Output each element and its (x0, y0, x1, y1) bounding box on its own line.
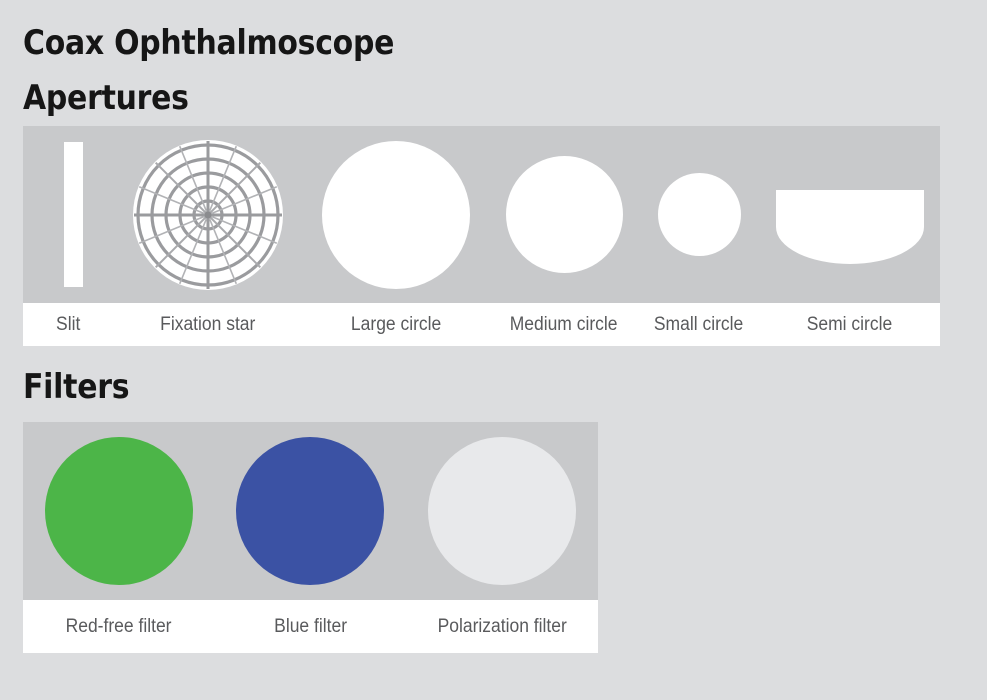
aperture-cell-medium-circle[interactable] (489, 126, 639, 303)
fixation-star-icon (132, 139, 284, 291)
label-text: Slit (56, 314, 80, 336)
aperture-label-medium-circle: Medium circle (489, 303, 639, 346)
apertures-label-row: Slit Fixation star Large circle Medium c… (23, 303, 940, 346)
aperture-cell-large-circle[interactable] (303, 126, 489, 303)
page-title-line-2: Apertures (23, 71, 586, 126)
label-text: Semi circle (807, 314, 892, 336)
filter-label-blue: Blue filter (215, 600, 407, 653)
small-circle-icon (658, 173, 741, 256)
aperture-label-fixation-star: Fixation star (113, 303, 303, 346)
filter-cell-blue[interactable] (215, 422, 407, 600)
filters-panel: Red-free filter Blue filter Polarization… (23, 422, 598, 653)
aperture-cell-fixation-star[interactable] (113, 126, 303, 303)
apertures-panel: Slit Fixation star Large circle Medium c… (23, 126, 940, 346)
semi-circle-icon (776, 190, 924, 264)
page-title: Coax Ophthalmoscope Apertures (23, 16, 663, 126)
label-text: Polarization filter (437, 616, 566, 638)
blue-filter-disc-icon (236, 437, 384, 585)
aperture-label-semi-circle: Semi circle (759, 303, 940, 346)
polarization-filter-disc-icon (428, 437, 576, 585)
label-text: Medium circle (510, 314, 618, 336)
filters-label-row: Red-free filter Blue filter Polarization… (23, 600, 598, 653)
label-text: Blue filter (274, 616, 347, 638)
filter-label-polarization: Polarization filter (406, 600, 598, 653)
large-circle-icon (322, 141, 470, 289)
filters-heading: Filters (23, 366, 129, 408)
filter-cell-polarization[interactable] (406, 422, 598, 600)
aperture-label-slit: Slit (23, 303, 113, 346)
filters-shape-row (23, 422, 598, 600)
aperture-label-large-circle: Large circle (303, 303, 489, 346)
aperture-cell-small-circle[interactable] (639, 126, 759, 303)
apertures-shape-row (23, 126, 940, 303)
aperture-cell-semi-circle[interactable] (759, 126, 940, 303)
aperture-label-small-circle: Small circle (639, 303, 759, 346)
ophthalmoscope-reference-figure: { "title": { "line1": "Coax Ophthalmosco… (0, 0, 987, 700)
page-title-line-1: Coax Ophthalmoscope (23, 16, 586, 71)
slit-icon (64, 142, 83, 287)
filter-cell-red-free[interactable] (23, 422, 215, 600)
aperture-cell-slit[interactable] (23, 126, 113, 303)
filter-label-red-free: Red-free filter (23, 600, 215, 653)
label-text: Large circle (351, 314, 441, 336)
label-text: Fixation star (160, 314, 255, 336)
label-text: Red-free filter (66, 616, 172, 638)
medium-circle-icon (506, 156, 623, 273)
green-filter-disc-icon (45, 437, 193, 585)
label-text: Small circle (654, 314, 743, 336)
